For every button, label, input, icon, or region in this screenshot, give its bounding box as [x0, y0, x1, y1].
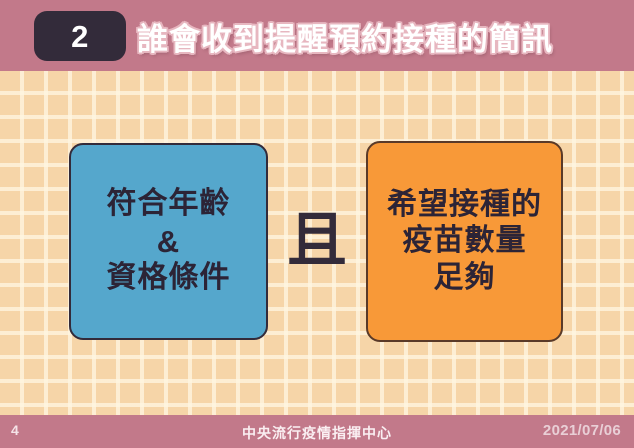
condition-box-eligibility: 符合年齡 & 資格條件: [69, 143, 268, 340]
condition-line: 資格條件: [107, 260, 231, 297]
step-number-badge: 2: [34, 11, 126, 61]
slide-header-band: 2 誰會收到提醒預約接種的簡訊: [0, 0, 634, 71]
condition-line: 符合年齡: [107, 186, 231, 223]
condition-line: &: [157, 223, 180, 261]
condition-line: 希望接種的: [387, 187, 542, 224]
footer-organization: 中央流行疫情指揮中心: [0, 423, 634, 443]
footer-date: 2021/07/06: [543, 422, 621, 439]
condition-line: 疫苗數量: [403, 223, 527, 260]
page-title: 誰會收到提醒預約接種的簡訊: [137, 11, 553, 61]
conjunction-glyph: 且: [268, 198, 366, 284]
slide-canvas: 2 誰會收到提醒預約接種的簡訊 符合年齡 & 資格條件 且 希望接種的 疫苗數量…: [0, 0, 634, 448]
step-number-label: 2: [71, 21, 89, 52]
condition-box-vaccine-supply: 希望接種的 疫苗數量 足夠: [366, 141, 563, 342]
condition-line: 足夠: [434, 260, 496, 297]
slide-footer-band: 4 中央流行疫情指揮中心 2021/07/06: [0, 415, 634, 448]
